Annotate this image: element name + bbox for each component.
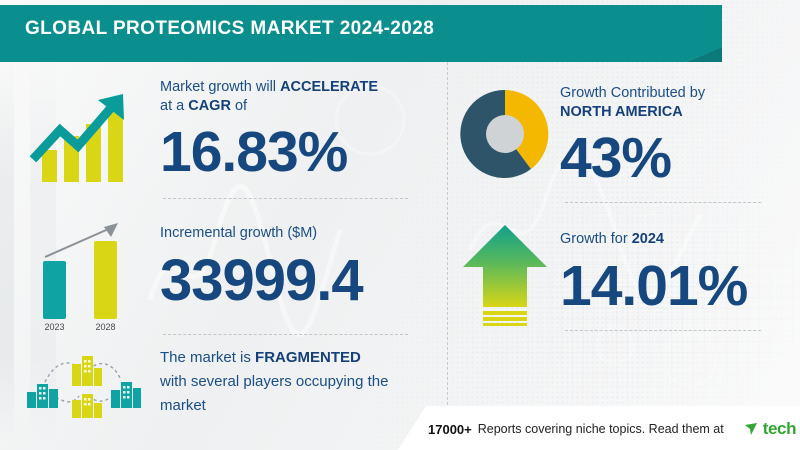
stat-cagr-lead-line1-bold: ACCELERATE [280,79,378,95]
divider-right-2 [565,330,761,331]
stat-fragmented-line1-plain: The market is [160,349,255,366]
stat-growth-2024: Growth for 2024 14.01% [450,214,800,334]
infographic-page: GLOBAL PROTEOMICS MARKET 2024-2028 Marke… [0,0,800,450]
stat-cagr-lead-line1-plain: Market growth will [160,79,280,95]
stat-fragmented-line1-bold: FRAGMENTED [255,349,361,366]
stat-cagr-lead-line2-bold: CAGR [188,98,231,114]
growth-chart-icon [0,70,160,200]
bar-label-2028: 2028 [95,322,115,332]
technavio-logo[interactable]: technavio® [744,419,800,439]
stat-cagr-lead: Market growth will ACCELERATE at a CAGR … [160,78,447,116]
up-arrow-icon [450,214,560,334]
stat-g24-line1-bold: 2024 [632,231,664,247]
footer-report-count: 17000+ [428,422,472,437]
fragmented-market-icon [0,344,160,419]
stat-incremental-text: Incremental growth ($M) 33999.4 [160,210,447,310]
footer-bar: 17000+ Reports covering niche topics. Re… [398,406,800,450]
stat-growth-2024-value: 14.01% [560,258,800,315]
stat-na-line1: Growth Contributed by [560,85,705,101]
bar-compare-icon: 2023 2028 [0,210,160,335]
footer-content: 17000+ Reports covering niche topics. Re… [428,419,800,439]
stat-north-america-lead: Growth Contributed by NORTH AMERICA [560,84,800,122]
footer-text: Reports covering niche topics. Read them… [478,422,724,436]
stat-cagr-text: Market growth will ACCELERATE at a CAGR … [160,70,447,181]
technavio-mark-icon [744,421,760,437]
stat-g24-line1-plain: Growth for [560,231,632,247]
stat-fragmented-text: The market is FRAGMENTED with several pl… [160,344,447,418]
stat-fragmented-line2: with several players occupying the [160,373,388,390]
stat-cagr: Market growth will ACCELERATE at a CAGR … [0,70,447,200]
stat-north-america: Growth Contributed by NORTH AMERICA 43% [450,76,800,191]
stat-fragmented: The market is FRAGMENTED with several pl… [0,344,447,419]
stat-fragmented-lead: The market is FRAGMENTED with several pl… [160,346,447,418]
left-column: Market growth will ACCELERATE at a CAGR … [0,62,447,415]
divider-left-2 [163,334,408,335]
stat-north-america-text: Growth Contributed by NORTH AMERICA 43% [560,76,800,187]
bar-label-2023: 2023 [44,322,64,332]
divider-left-1 [163,198,408,199]
stat-growth-2024-text: Growth for 2024 14.01% [560,214,800,315]
stat-fragmented-line3: market [160,397,206,414]
stat-incremental-value: 33999.4 [160,252,447,310]
column-divider [447,62,448,415]
donut-chart-icon [450,76,560,191]
logo-word-tech: tech [763,419,796,439]
stat-north-america-value: 43% [560,130,800,187]
stat-cagr-value: 16.83% [160,124,447,181]
divider-right-1 [565,202,761,203]
stat-growth-2024-lead: Growth for 2024 [560,230,800,249]
page-title: GLOBAL PROTEOMICS MARKET 2024-2028 [25,18,434,40]
stat-cagr-lead-line2-plain: at a [160,98,188,114]
stat-cagr-lead-line2-tail: of [231,98,247,114]
stat-incremental-lead: Incremental growth ($M) [160,224,447,243]
stat-na-line2: NORTH AMERICA [560,104,683,120]
right-column: Growth Contributed by NORTH AMERICA 43% [450,62,800,415]
stat-incremental-growth: 2023 2028 Incremental growth ($M) 33999.… [0,210,447,335]
